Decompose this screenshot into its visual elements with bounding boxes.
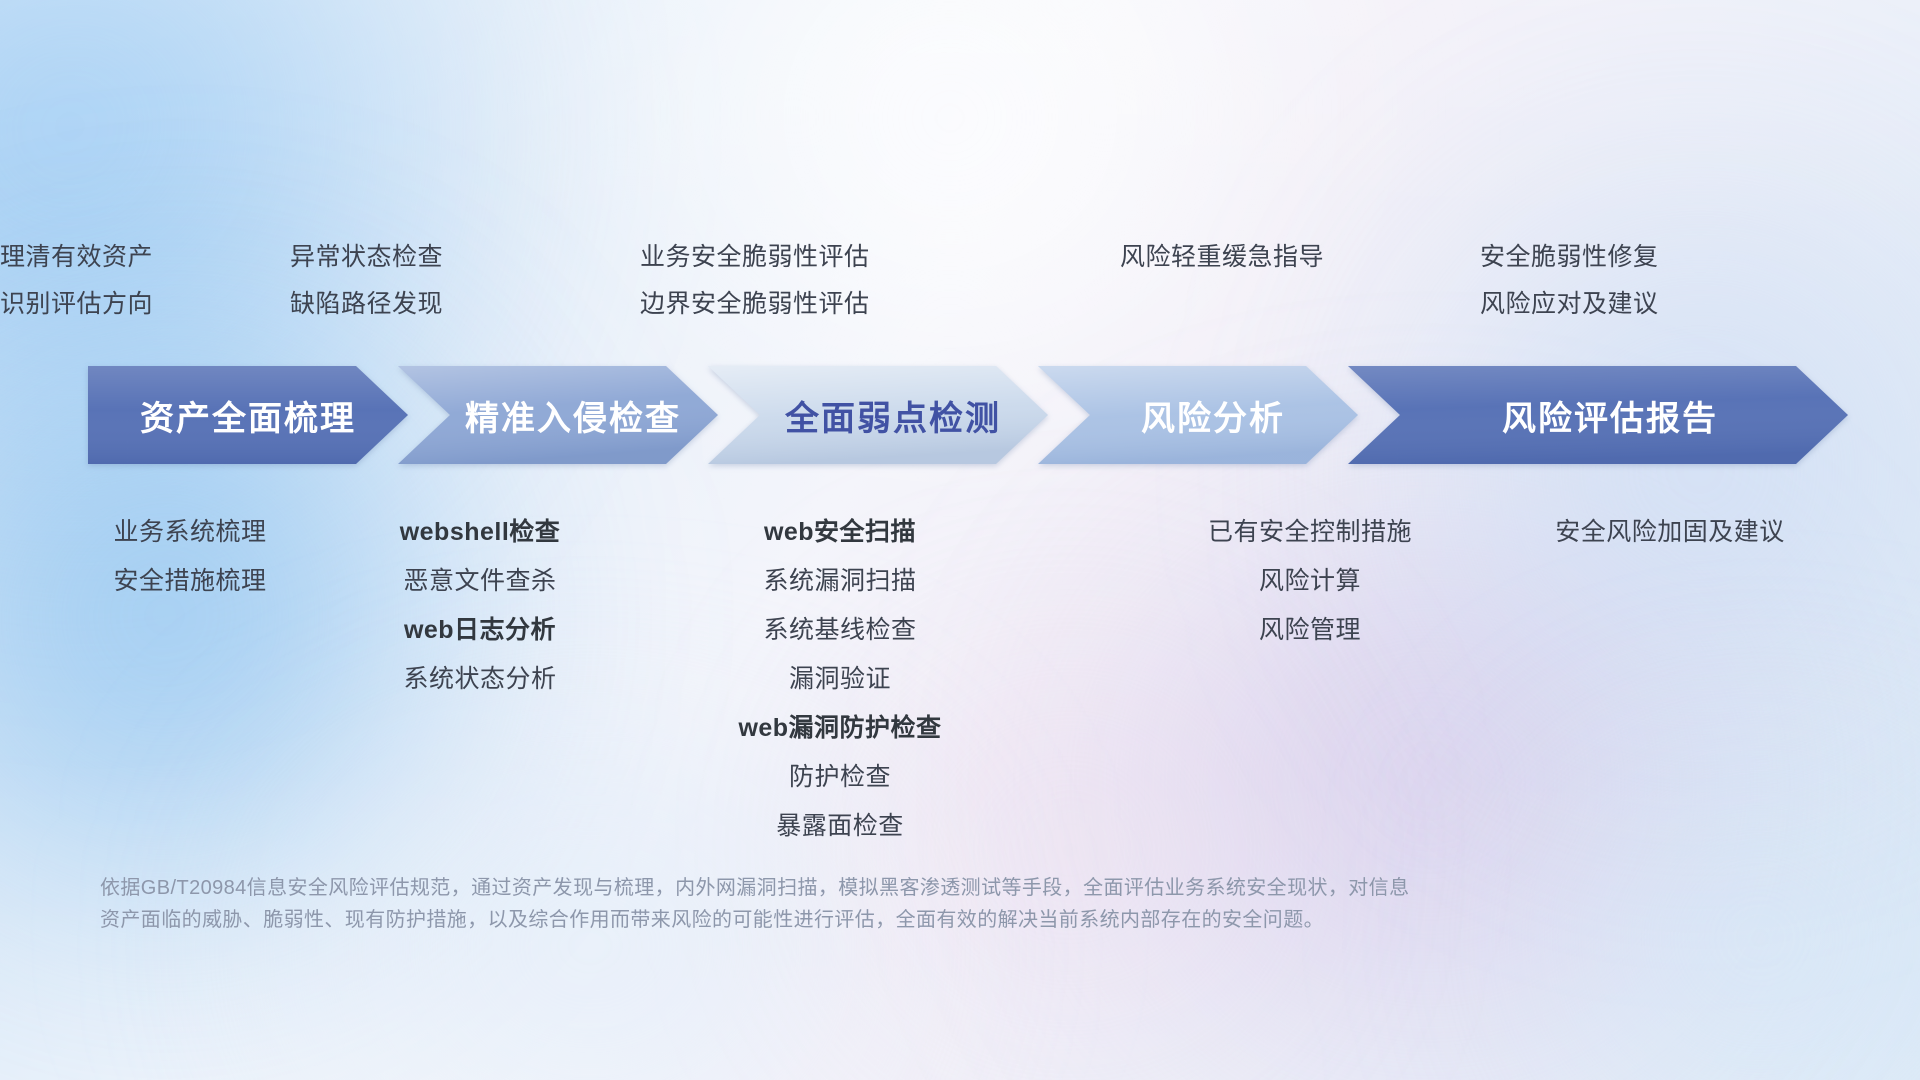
bottom-list-item: 风险管理 — [1120, 618, 1500, 643]
top-list-item: 安全脆弱性修复 — [1480, 245, 1860, 270]
top-list-intrusion-check: 异常状态检查 缺陷路径发现 — [290, 245, 670, 317]
top-list-risk-analysis: 风险轻重缓急指导 — [1120, 245, 1500, 270]
stage-label: 全面弱点检测 — [785, 391, 1001, 440]
stage-label: 精准入侵检查 — [465, 391, 681, 440]
stage-label: 风险分析 — [1141, 391, 1285, 440]
top-list-item: 缺陷路径发现 — [290, 292, 670, 317]
bottom-list-item: 暴露面检查 — [640, 814, 1040, 839]
bottom-list-item: 已有安全控制措施 — [1120, 520, 1500, 545]
footer-note: 依据GB/T20984信息安全风险评估规范，通过资产发现与梳理，内外网漏洞扫描，… — [100, 872, 1660, 937]
top-list-item: 异常状态检查 — [290, 245, 670, 270]
top-list-item: 边界安全脆弱性评估 — [640, 292, 1040, 317]
stage-chevron-intrusion-check[interactable]: 精准入侵检查 — [398, 366, 718, 464]
footer-line-2: 资产面临的威胁、脆弱性、现有防护措施，以及综合作用而带来风险的可能性进行评估，全… — [100, 904, 1660, 936]
bottom-list-item: 漏洞验证 — [640, 667, 1040, 692]
top-list-item: 风险轻重缓急指导 — [1120, 245, 1500, 270]
bottom-list-item: 安全风险加固及建议 — [1470, 520, 1870, 545]
bottom-list-item: 系统基线检查 — [640, 618, 1040, 643]
bottom-list-item: 系统漏洞扫描 — [640, 569, 1040, 594]
top-list-assessment-report: 安全脆弱性修复 风险应对及建议 — [1480, 245, 1860, 317]
stage-label: 资产全面梳理 — [140, 391, 356, 440]
process-diagram: 理清有效资产 识别评估方向 异常状态检查 缺陷路径发现 业务安全脆弱性评估 边界… — [0, 0, 1920, 1080]
bottom-list-item: 系统状态分析 — [290, 667, 670, 692]
stage-chevron-asset-inventory[interactable]: 资产全面梳理 — [88, 366, 408, 464]
bottom-list-item: 风险计算 — [1120, 569, 1500, 594]
top-list-item: 风险应对及建议 — [1480, 292, 1860, 317]
bottom-list-item: 防护检查 — [640, 765, 1040, 790]
top-list-weakness-detection: 业务安全脆弱性评估 边界安全脆弱性评估 — [640, 245, 1040, 317]
stage-chevron-assessment-report[interactable]: 风险评估报告 — [1348, 366, 1848, 464]
bottom-list-item: web安全扫描 — [640, 520, 1040, 545]
bottom-list-item: 恶意文件查杀 — [290, 569, 670, 594]
stage-label: 风险评估报告 — [1502, 391, 1718, 440]
footer-line-1: 依据GB/T20984信息安全风险评估规范，通过资产发现与梳理，内外网漏洞扫描，… — [100, 872, 1660, 904]
bottom-list-item: web漏洞防护检查 — [640, 716, 1040, 741]
bottom-list-item: webshell检查 — [290, 520, 670, 545]
bottom-list-weakness-detection: web安全扫描 系统漏洞扫描 系统基线检查 漏洞验证 web漏洞防护检查 防护检… — [640, 520, 1040, 839]
bottom-list-risk-analysis: 已有安全控制措施 风险计算 风险管理 — [1120, 520, 1500, 643]
bottom-list-assessment-report: 安全风险加固及建议 — [1470, 520, 1870, 545]
bottom-list-intrusion-check: webshell检查 恶意文件查杀 web日志分析 系统状态分析 — [290, 520, 670, 692]
bottom-list-item: web日志分析 — [290, 618, 670, 643]
top-list-item: 业务安全脆弱性评估 — [640, 245, 1040, 270]
stage-chevron-risk-analysis[interactable]: 风险分析 — [1038, 366, 1358, 464]
process-stage-band: 资产全面梳理 精准入侵检查 — [0, 366, 1920, 476]
stage-chevron-weakness-detection[interactable]: 全面弱点检测 — [708, 366, 1048, 464]
